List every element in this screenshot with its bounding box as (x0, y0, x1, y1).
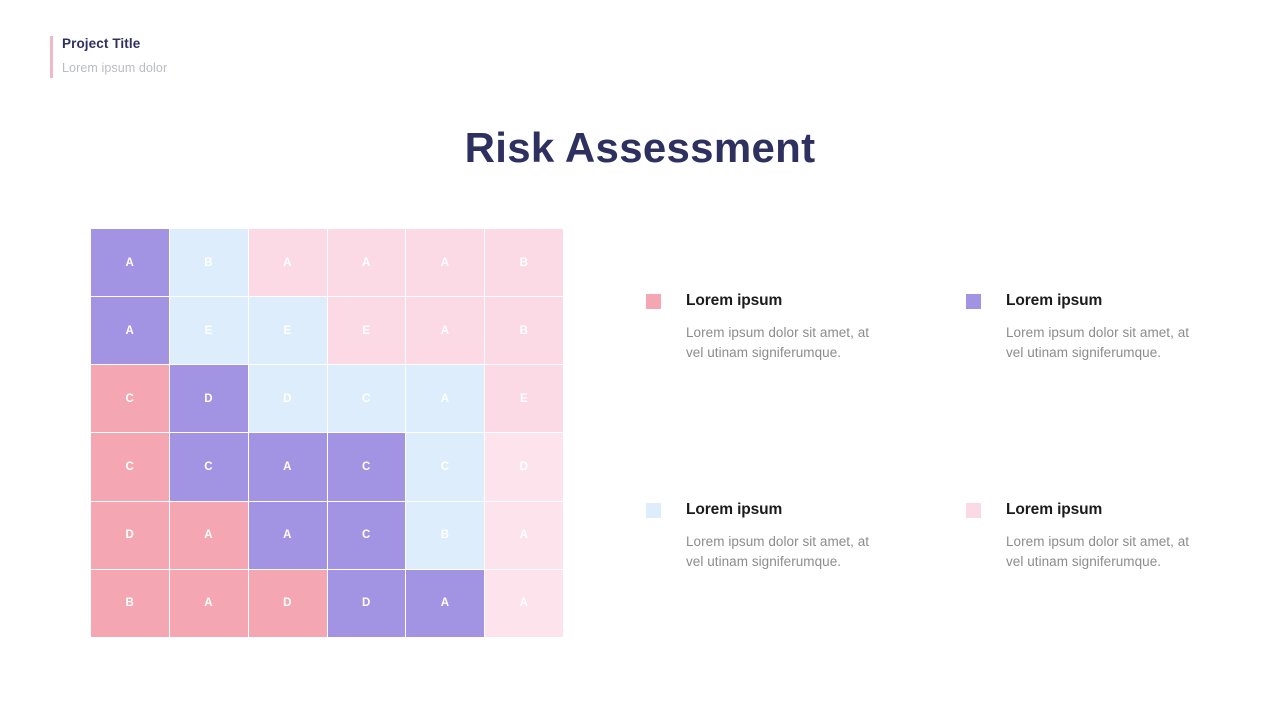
legend-item-description: Lorem ipsum dolor sit amet, at vel utina… (686, 323, 871, 362)
legend-swatch-icon (646, 503, 661, 518)
matrix-cell[interactable]: A (406, 365, 484, 432)
matrix-cell[interactable]: A (406, 297, 484, 364)
matrix-cell[interactable]: A (485, 570, 563, 637)
matrix-cell[interactable]: D (249, 365, 327, 432)
legend-item-title: Lorem ipsum (1006, 501, 1280, 519)
legend-item: Lorem ipsumLorem ipsum dolor sit amet, a… (646, 501, 966, 612)
matrix-cell[interactable]: A (249, 502, 327, 569)
legend-item: Lorem ipsumLorem ipsum dolor sit amet, a… (966, 501, 1280, 612)
matrix-cell[interactable]: C (406, 433, 484, 500)
project-subtitle: Lorem ipsum dolor (62, 60, 167, 76)
matrix-cell[interactable]: E (249, 297, 327, 364)
matrix-cell[interactable]: A (406, 570, 484, 637)
matrix-cell[interactable]: A (91, 297, 169, 364)
matrix-cell[interactable]: B (485, 297, 563, 364)
matrix-cell[interactable]: A (249, 229, 327, 296)
matrix-cell[interactable]: C (170, 433, 248, 500)
matrix-cell[interactable]: D (249, 570, 327, 637)
matrix-cell[interactable]: B (406, 502, 484, 569)
project-title: Project Title (62, 36, 167, 52)
matrix-cell[interactable]: C (91, 365, 169, 432)
legend-item-description: Lorem ipsum dolor sit amet, at vel utina… (1006, 323, 1191, 362)
matrix-cell[interactable]: E (170, 297, 248, 364)
legend-swatch-icon (966, 503, 981, 518)
matrix-cell[interactable]: E (485, 365, 563, 432)
legend: Lorem ipsumLorem ipsum dolor sit amet, a… (646, 292, 1226, 612)
legend-item-title: Lorem ipsum (686, 292, 966, 310)
matrix-cell[interactable]: B (91, 570, 169, 637)
slide-header: Project Title Lorem ipsum dolor (50, 36, 167, 76)
matrix-cell[interactable]: D (328, 570, 406, 637)
matrix-cell[interactable]: C (328, 365, 406, 432)
matrix-cell[interactable]: D (170, 365, 248, 432)
legend-item-description: Lorem ipsum dolor sit amet, at vel utina… (686, 532, 871, 571)
matrix-cell[interactable]: C (328, 502, 406, 569)
matrix-cell[interactable]: C (328, 433, 406, 500)
matrix-cell[interactable]: A (170, 502, 248, 569)
matrix-cell[interactable]: A (91, 229, 169, 296)
matrix-cell[interactable]: C (91, 433, 169, 500)
legend-item-title: Lorem ipsum (686, 501, 966, 519)
matrix-cell[interactable]: B (170, 229, 248, 296)
matrix-cell[interactable]: E (328, 297, 406, 364)
matrix-cell[interactable]: A (328, 229, 406, 296)
legend-item: Lorem ipsumLorem ipsum dolor sit amet, a… (646, 292, 966, 501)
slide: Project Title Lorem ipsum dolor Risk Ass… (0, 0, 1280, 720)
legend-item-title: Lorem ipsum (1006, 292, 1280, 310)
page-title: Risk Assessment (0, 124, 1280, 172)
risk-matrix: ABAAABAEEEABCDDCAECCACCDDAACBABADDAA (91, 229, 563, 637)
matrix-cell[interactable]: A (485, 502, 563, 569)
matrix-cell[interactable]: A (406, 229, 484, 296)
matrix-cell[interactable]: A (170, 570, 248, 637)
matrix-cell[interactable]: D (91, 502, 169, 569)
legend-swatch-icon (966, 294, 981, 309)
legend-item: Lorem ipsumLorem ipsum dolor sit amet, a… (966, 292, 1280, 501)
header-accent-bar (50, 36, 53, 78)
legend-swatch-icon (646, 294, 661, 309)
matrix-cell[interactable]: A (249, 433, 327, 500)
matrix-cell[interactable]: B (485, 229, 563, 296)
matrix-cell[interactable]: D (485, 433, 563, 500)
legend-item-description: Lorem ipsum dolor sit amet, at vel utina… (1006, 532, 1191, 571)
